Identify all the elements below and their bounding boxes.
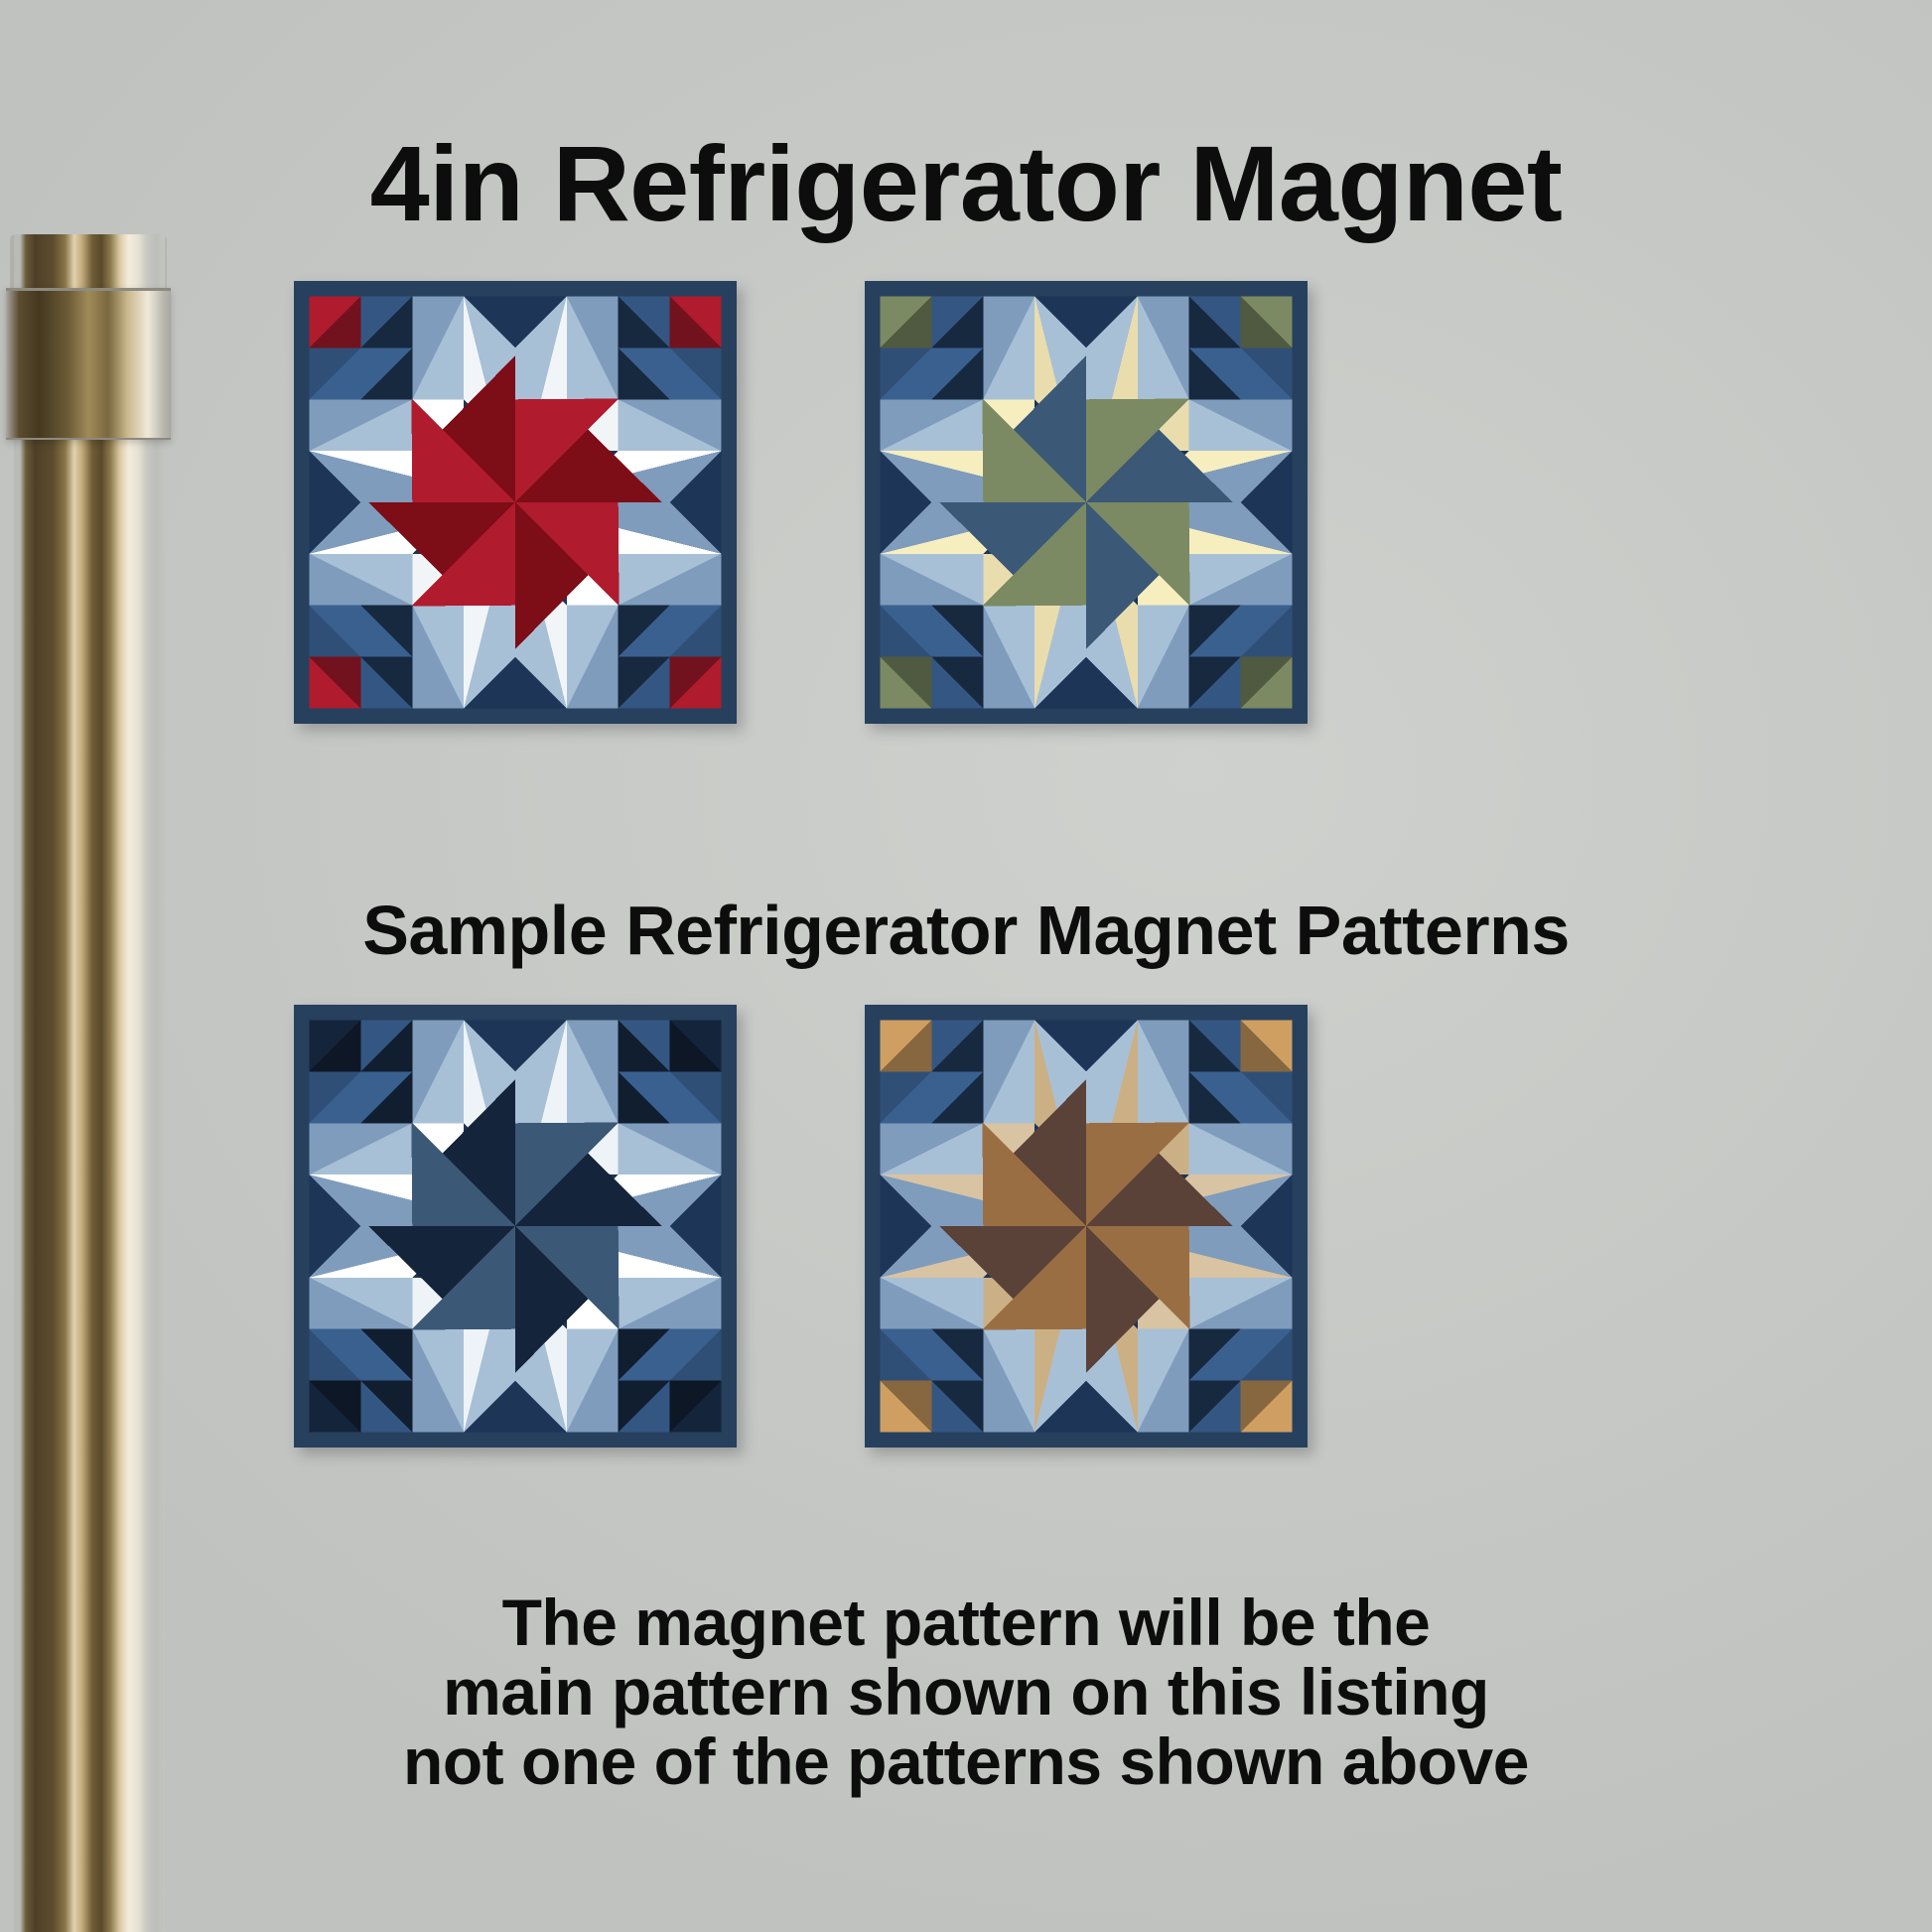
footer-line-1: The magnet pattern will be the xyxy=(0,1588,1932,1658)
quilt-block-tan-brown-blue xyxy=(865,1005,1308,1448)
handle-bracket xyxy=(6,288,171,440)
footer-note: The magnet pattern will be the main patt… xyxy=(0,1588,1932,1797)
quilt-block-cream-sage-blue[interactable] xyxy=(865,281,1308,724)
footer-line-2: main pattern shown on this listing xyxy=(0,1658,1932,1727)
quilt-block-red-white-blue[interactable] xyxy=(294,281,737,724)
quilt-block-cream-sage-blue xyxy=(865,281,1308,724)
quilt-block-tan-brown-blue[interactable] xyxy=(865,1005,1308,1448)
fridge-door-background: 4in Refrigerator Magnet Sample Refrigera… xyxy=(0,0,1932,1932)
page-title: 4in Refrigerator Magnet xyxy=(0,127,1932,240)
quilt-block-red-white-blue xyxy=(294,281,737,724)
quilt-block-blue-white xyxy=(294,1005,737,1448)
sample-patterns-caption: Sample Refrigerator Magnet Patterns xyxy=(0,894,1932,967)
quilt-block-blue-white[interactable] xyxy=(294,1005,737,1448)
footer-line-3: not one of the patterns shown above xyxy=(0,1727,1932,1797)
